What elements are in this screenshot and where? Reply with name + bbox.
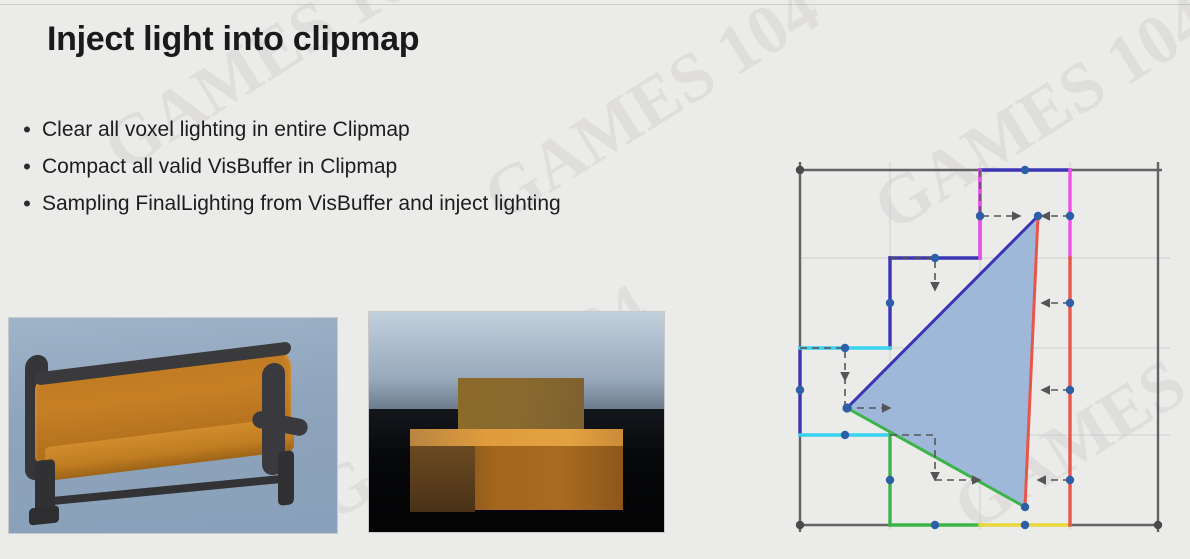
slide-root: GAMES 104 GAMES 104 GAMES 104 GAMES 104 … xyxy=(0,0,1190,559)
list-item: • Compact all valid VisBuffer in Clipmap xyxy=(12,152,561,182)
bullet-marker-icon: • xyxy=(12,189,42,219)
bench-render-image xyxy=(8,317,338,534)
bench-foot xyxy=(29,506,59,526)
clipmap-voxel-diagram xyxy=(780,140,1190,559)
list-item: • Clear all voxel lighting in entire Cli… xyxy=(12,115,561,145)
voxel-seat-left xyxy=(410,440,475,513)
voxel-backrest xyxy=(458,378,585,433)
top-divider xyxy=(0,4,1190,5)
bench-leg-right xyxy=(278,450,294,505)
list-item-label: Compact all valid VisBuffer in Clipmap xyxy=(42,152,397,182)
list-item-label: Clear all voxel lighting in entire Clipm… xyxy=(42,115,410,145)
bullet-marker-icon: • xyxy=(12,115,42,145)
voxel-bench-image xyxy=(368,311,665,533)
list-item-label: Sampling FinalLighting from VisBuffer an… xyxy=(42,189,561,219)
bullet-list: • Clear all voxel lighting in entire Cli… xyxy=(12,115,561,226)
diagram-svg xyxy=(780,140,1190,559)
bullet-marker-icon: • xyxy=(12,152,42,182)
slide-title: Inject light into clipmap xyxy=(47,20,419,59)
voxel-seat-top xyxy=(410,429,622,447)
list-item: • Sampling FinalLighting from VisBuffer … xyxy=(12,189,561,219)
